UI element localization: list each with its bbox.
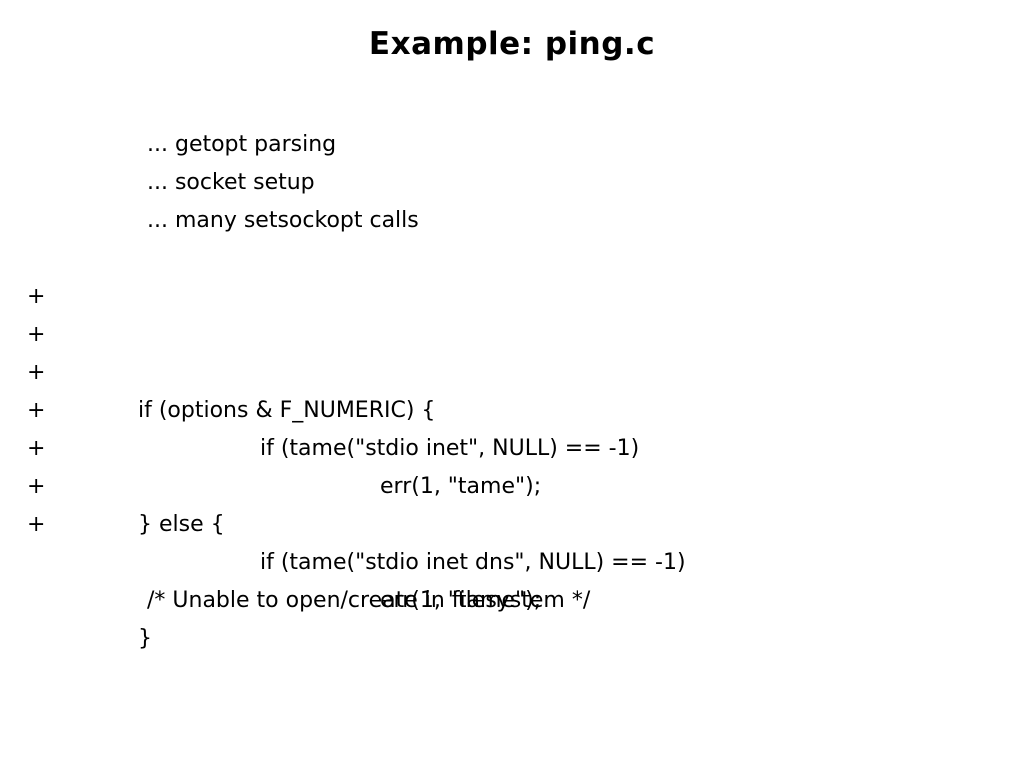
spacer: [0, 544, 1024, 582]
diff-add-marker: +: [27, 430, 45, 468]
preamble-line: ... many setsockopt calls: [0, 202, 1024, 240]
slide: Example: ping.c ... getopt parsing ... s…: [0, 0, 1024, 768]
diff-line: + }: [0, 506, 1024, 544]
spacer: [0, 240, 1024, 278]
diff-add-marker: +: [27, 506, 45, 544]
diff-add-marker: +: [27, 278, 45, 316]
diff-add-marker: +: [27, 468, 45, 506]
diff-add-marker: +: [27, 392, 45, 430]
diff-line: + } else {: [0, 392, 1024, 430]
diff-add-marker: +: [27, 354, 45, 392]
preamble-line: ... socket setup: [0, 164, 1024, 202]
preamble-line: ... getopt parsing: [0, 126, 1024, 164]
diff-line: + err(1, "tame");: [0, 468, 1024, 506]
page-title: Example: ping.c: [0, 24, 1024, 64]
diff-add-marker: +: [27, 316, 45, 354]
diff-line: + if (tame("stdio inet", NULL) == -1): [0, 316, 1024, 354]
diff-line: + if (options & F_NUMERIC) {: [0, 278, 1024, 316]
diff-line: + err(1, "tame");: [0, 354, 1024, 392]
diff-line-text: }: [0, 620, 1024, 658]
slide-body: ... getopt parsing ... socket setup ... …: [0, 126, 1024, 620]
diff-line: + if (tame("stdio inet dns", NULL) == -1…: [0, 430, 1024, 468]
comment-line: /* Unable to open/create in filesystem *…: [0, 582, 1024, 620]
